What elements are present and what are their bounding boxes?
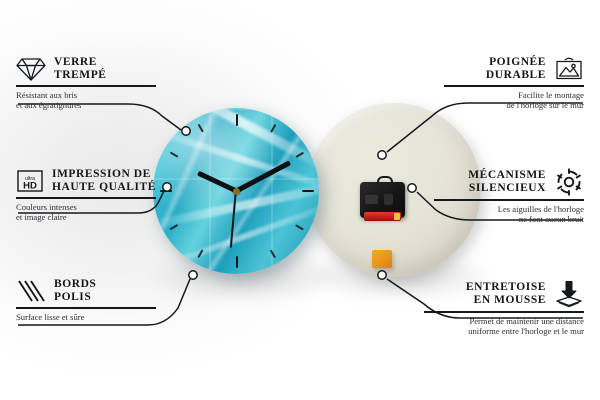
callout-divider — [424, 311, 584, 313]
callout-header: ultra HD IMPRESSION DE HAUTE QUALITÉ — [16, 168, 156, 194]
callout-desc-line2: et aux égratignures — [16, 100, 156, 110]
callout-title-line2: SILENCIEUX — [468, 182, 546, 195]
callout-desc-line2: de l'horloge sur le mur — [444, 100, 584, 110]
callout-title-line2: DURABLE — [486, 69, 546, 82]
foam-spacer-icon — [554, 280, 584, 308]
clock-center-cap — [233, 188, 240, 195]
gear-icon — [554, 168, 584, 196]
clock-mechanism — [360, 176, 405, 218]
callout-verre-trempe: VERRE TREMPÉ Résistant aux bris et aux é… — [16, 56, 156, 110]
callout-title-line1: BORDS — [54, 278, 96, 291]
callout-header: ENTRETOISE EN MOUSSE — [424, 280, 584, 308]
callout-title-line1: VERRE — [54, 56, 107, 69]
diamond-icon — [16, 56, 46, 82]
callout-desc-line2: ne font aucun bruit — [434, 214, 584, 224]
callout-desc-line1: Permet de maintenir une distance — [424, 316, 584, 326]
callout-title-line2: POLIS — [54, 291, 96, 304]
clock-front-view — [153, 108, 319, 274]
callout-header: VERRE TREMPÉ — [16, 56, 156, 82]
battery-terminal — [394, 213, 400, 220]
callout-desc-line1: Les aiguilles de l'horloge — [434, 204, 584, 214]
callout-desc-line1: Couleurs intenses — [16, 202, 156, 212]
callout-bords-polis: BORDS POLIS Surface lisse et sûre — [16, 278, 156, 322]
callout-title-line2: EN MOUSSE — [466, 294, 546, 307]
callout-divider — [444, 85, 584, 87]
callout-mecanisme-silencieux: MÉCANISME SILENCIEUX Les aiguilles de l'… — [434, 168, 584, 224]
battery — [364, 212, 401, 221]
mechanism-body — [360, 182, 405, 218]
callout-header: BORDS POLIS — [16, 278, 156, 304]
callout-title-line2: HAUTE QUALITÉ — [52, 181, 156, 194]
callout-poignee-durable: POIGNÉE DURABLE Facilite le montage de l… — [444, 56, 584, 110]
picture-frame-icon — [554, 56, 584, 82]
mechanism-detail-left — [365, 195, 378, 204]
callout-desc-line1: Facilite le montage — [444, 90, 584, 100]
callout-divider — [434, 199, 584, 201]
callout-header: MÉCANISME SILENCIEUX — [434, 168, 584, 196]
ultra-hd-icon: ultra HD — [16, 168, 44, 194]
callout-desc-line1: Résistant aux bris — [16, 90, 156, 100]
clock-hour-hand — [197, 171, 237, 193]
svg-text:HD: HD — [23, 181, 37, 192]
callout-header: POIGNÉE DURABLE — [444, 56, 584, 82]
callout-divider — [16, 307, 156, 309]
callout-divider — [16, 85, 156, 87]
callout-title-line1: POIGNÉE — [486, 56, 546, 69]
callout-divider — [16, 197, 156, 199]
callout-desc-line1: Surface lisse et sûre — [16, 312, 156, 322]
callout-title-line1: IMPRESSION DE — [52, 168, 156, 181]
polished-edges-icon — [16, 278, 46, 304]
callout-desc-line2: uniforme entre l'horloge et le mur — [424, 326, 584, 336]
callout-title-line1: MÉCANISME — [468, 169, 546, 182]
mechanism-detail-right — [384, 194, 393, 205]
callout-entretoise-en-mousse: ENTRETOISE EN MOUSSE Permet de maintenir… — [424, 280, 584, 336]
callout-title-line1: ENTRETOISE — [466, 281, 546, 294]
foam-spacer-pad — [372, 250, 392, 268]
product-infographic: VERRE TREMPÉ Résistant aux bris et aux é… — [0, 0, 600, 400]
callout-title-line2: TREMPÉ — [54, 69, 107, 82]
callout-impression-haute-qualite: ultra HD IMPRESSION DE HAUTE QUALITÉ Cou… — [16, 168, 156, 222]
callout-desc-line2: et image claire — [16, 212, 156, 222]
